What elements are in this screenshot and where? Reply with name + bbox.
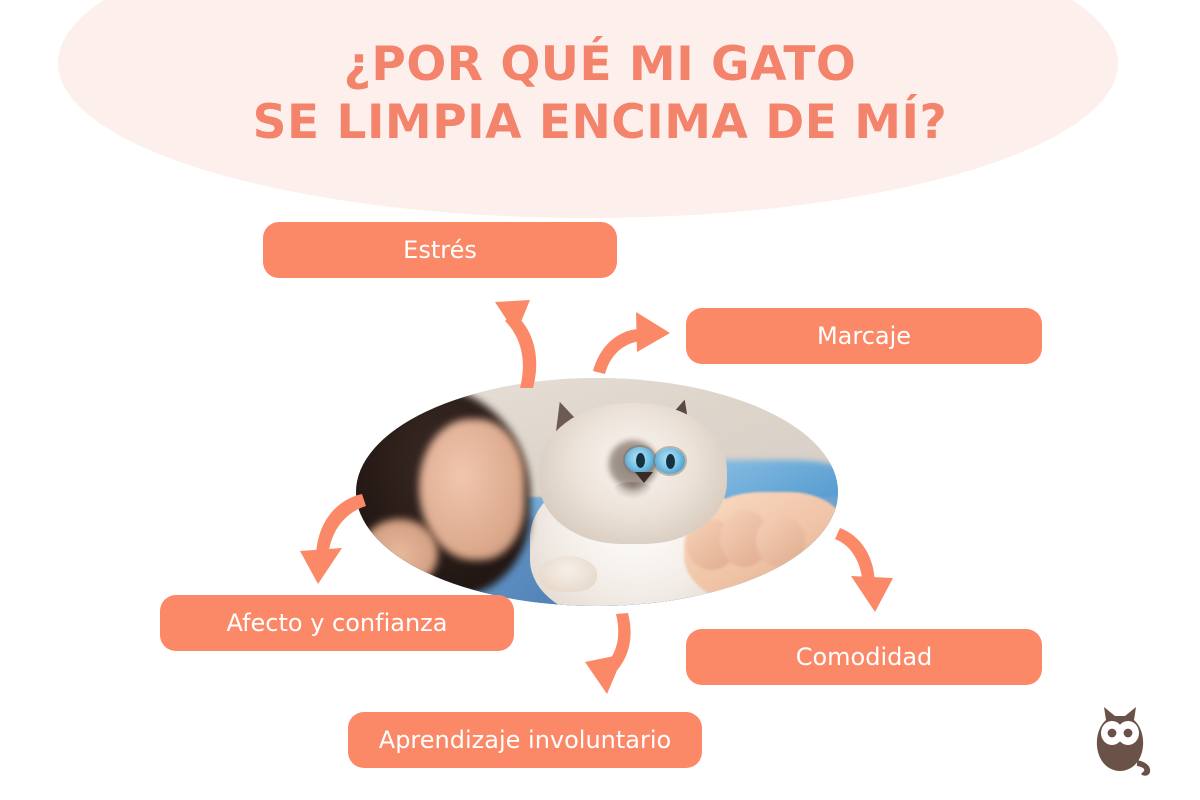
page-title: ¿POR QUÉ MI GATO SE LIMPIA ENCIMA DE MÍ?	[0, 36, 1200, 152]
reason-label-afecto: Afecto y confianza	[227, 609, 448, 637]
cat-logo-pupil-left	[1108, 729, 1117, 738]
reason-pill-comodidad[interactable]: Comodidad	[686, 629, 1042, 685]
photo-finger-3	[756, 515, 805, 567]
cat-eye-right	[655, 448, 685, 474]
cat-paw	[539, 556, 597, 592]
arrow-to-aprendizaje-icon	[585, 613, 631, 694]
page-title-line-2: SE LIMPIA ENCIMA DE MÍ?	[0, 94, 1200, 152]
infographic-canvas: ¿POR QUÉ MI GATO SE LIMPIA ENCIMA DE MÍ?	[0, 0, 1200, 800]
reason-label-marcaje: Marcaje	[817, 322, 911, 350]
photo-person-ear	[361, 519, 438, 587]
arrow-to-estres-icon	[495, 300, 536, 388]
cat-pupil-left	[636, 453, 645, 468]
cat-muzzle-shadow	[612, 482, 653, 499]
reason-pill-afecto[interactable]: Afecto y confianza	[160, 595, 514, 651]
cat-eye-left	[625, 447, 655, 473]
cat-logo-pupil-right	[1124, 729, 1133, 738]
reason-pill-estres[interactable]: Estrés	[263, 222, 617, 278]
cat-logo	[1082, 702, 1158, 778]
page-title-line-1: ¿POR QUÉ MI GATO	[0, 36, 1200, 94]
reason-label-aprendizaje: Aprendizaje involuntario	[379, 726, 671, 754]
reason-pill-marcaje[interactable]: Marcaje	[686, 308, 1042, 364]
reason-label-estres: Estrés	[403, 236, 477, 264]
reason-label-comodidad: Comodidad	[796, 643, 933, 671]
cat-pupil-right	[666, 454, 675, 469]
reason-pill-aprendizaje[interactable]: Aprendizaje involuntario	[348, 712, 702, 768]
arrow-to-comodidad-icon	[835, 528, 893, 612]
center-photo	[356, 378, 838, 606]
photo-scene	[356, 378, 838, 606]
cat-head	[539, 403, 727, 544]
arrow-to-marcaje-icon	[593, 312, 670, 374]
